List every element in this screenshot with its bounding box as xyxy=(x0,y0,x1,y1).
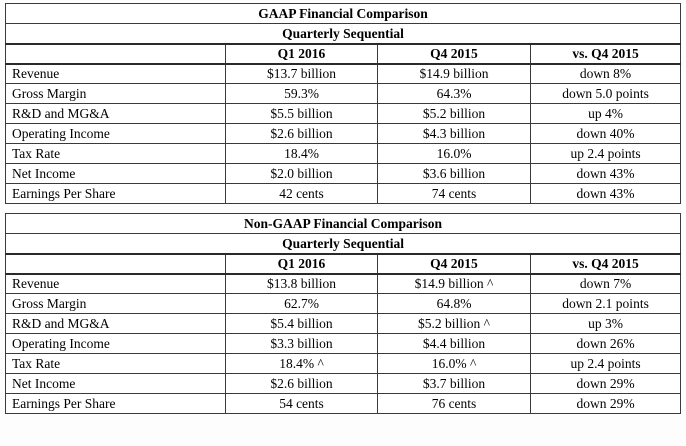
row-label: Gross Margin xyxy=(6,84,226,104)
row-label: R&D and MG&A xyxy=(6,104,226,124)
cell-change: down 43% xyxy=(531,164,681,184)
cell-change: down 43% xyxy=(531,184,681,204)
cell-q1-2016: 18.4% xyxy=(226,144,378,164)
cell-q1-2016: 42 cents xyxy=(226,184,378,204)
cell-change: down 7% xyxy=(531,274,681,294)
cell-q4-2015: $4.3 billion xyxy=(378,124,531,144)
table-row: Tax Rate 18.4% 16.0% up 2.4 points xyxy=(6,144,681,164)
table-subtitle: Quarterly Sequential xyxy=(6,24,681,44)
cell-q4-2015: $5.2 billion xyxy=(378,104,531,124)
column-header-q1-2016: Q1 2016 xyxy=(226,44,378,64)
table-row: R&D and MG&A $5.5 billion $5.2 billion u… xyxy=(6,104,681,124)
cell-change: down 26% xyxy=(531,334,681,354)
cell-change: down 8% xyxy=(531,64,681,84)
cell-q1-2016: $5.4 billion xyxy=(226,314,378,334)
row-label: Tax Rate xyxy=(6,144,226,164)
table-row: Tax Rate 18.4% ^ 16.0% ^ up 2.4 points xyxy=(6,354,681,374)
table-row: Net Income $2.6 billion $3.7 billion dow… xyxy=(6,374,681,394)
table-row: Gross Margin 59.3% 64.3% down 5.0 points xyxy=(6,84,681,104)
cell-change: up 4% xyxy=(531,104,681,124)
cell-change: up 3% xyxy=(531,314,681,334)
row-label: Earnings Per Share xyxy=(6,184,226,204)
table-row: Gross Margin 62.7% 64.8% down 2.1 points xyxy=(6,294,681,314)
row-label: Earnings Per Share xyxy=(6,394,226,414)
cell-change: down 5.0 points xyxy=(531,84,681,104)
cell-q1-2016: 18.4% ^ xyxy=(226,354,378,374)
cell-q1-2016: $13.7 billion xyxy=(226,64,378,84)
column-header-metric xyxy=(6,254,226,274)
table-title: GAAP Financial Comparison xyxy=(6,4,681,24)
cell-q1-2016: $5.5 billion xyxy=(226,104,378,124)
cell-q1-2016: 54 cents xyxy=(226,394,378,414)
table-row: Operating Income $2.6 billion $4.3 billi… xyxy=(6,124,681,144)
cell-q1-2016: $2.0 billion xyxy=(226,164,378,184)
cell-q4-2015: $4.4 billion xyxy=(378,334,531,354)
row-label: Operating Income xyxy=(6,334,226,354)
cell-change: down 2.1 points xyxy=(531,294,681,314)
column-header-vs-q4-2015: vs. Q4 2015 xyxy=(531,44,681,64)
non-gaap-financial-comparison-table: Non-GAAP Financial Comparison Quarterly … xyxy=(5,213,681,414)
table-header-row: Q1 2016 Q4 2015 vs. Q4 2015 xyxy=(6,44,681,64)
cell-q1-2016: $2.6 billion xyxy=(226,124,378,144)
row-label: Net Income xyxy=(6,374,226,394)
cell-q4-2015: $14.9 billion ^ xyxy=(378,274,531,294)
column-header-q4-2015: Q4 2015 xyxy=(378,44,531,64)
cell-q4-2015: 64.8% xyxy=(378,294,531,314)
table-row: Revenue $13.8 billion $14.9 billion ^ do… xyxy=(6,274,681,294)
table-subtitle-row: Quarterly Sequential xyxy=(6,24,681,44)
cell-q4-2015: $3.6 billion xyxy=(378,164,531,184)
cell-q4-2015: $14.9 billion xyxy=(378,64,531,84)
cell-q4-2015: 76 cents xyxy=(378,394,531,414)
cell-q1-2016: 59.3% xyxy=(226,84,378,104)
table-title: Non-GAAP Financial Comparison xyxy=(6,214,681,234)
cell-change: up 2.4 points xyxy=(531,144,681,164)
cell-change: up 2.4 points xyxy=(531,354,681,374)
cell-q4-2015: $3.7 billion xyxy=(378,374,531,394)
cell-q1-2016: $13.8 billion xyxy=(226,274,378,294)
cell-change: down 40% xyxy=(531,124,681,144)
cell-q4-2015: 16.0% xyxy=(378,144,531,164)
cell-change: down 29% xyxy=(531,394,681,414)
cell-q4-2015: 64.3% xyxy=(378,84,531,104)
row-label: Net Income xyxy=(6,164,226,184)
table-row: Net Income $2.0 billion $3.6 billion dow… xyxy=(6,164,681,184)
table-row: Earnings Per Share 42 cents 74 cents dow… xyxy=(6,184,681,204)
row-label: Revenue xyxy=(6,64,226,84)
row-label: Tax Rate xyxy=(6,354,226,374)
cell-q4-2015: 16.0% ^ xyxy=(378,354,531,374)
table-row: Revenue $13.7 billion $14.9 billion down… xyxy=(6,64,681,84)
row-label: R&D and MG&A xyxy=(6,314,226,334)
row-label: Revenue xyxy=(6,274,226,294)
gaap-financial-comparison-table: GAAP Financial Comparison Quarterly Sequ… xyxy=(5,3,681,204)
table-subtitle: Quarterly Sequential xyxy=(6,234,681,254)
column-header-q1-2016: Q1 2016 xyxy=(226,254,378,274)
cell-q4-2015: $5.2 billion ^ xyxy=(378,314,531,334)
table-header-row: Q1 2016 Q4 2015 vs. Q4 2015 xyxy=(6,254,681,274)
table-row: Operating Income $3.3 billion $4.4 billi… xyxy=(6,334,681,354)
column-header-vs-q4-2015: vs. Q4 2015 xyxy=(531,254,681,274)
row-label: Gross Margin xyxy=(6,294,226,314)
cell-change: down 29% xyxy=(531,374,681,394)
table-title-row: GAAP Financial Comparison xyxy=(6,4,681,24)
cell-q1-2016: 62.7% xyxy=(226,294,378,314)
row-label: Operating Income xyxy=(6,124,226,144)
cell-q1-2016: $2.6 billion xyxy=(226,374,378,394)
document-page: GAAP Financial Comparison Quarterly Sequ… xyxy=(0,0,686,446)
table-title-row: Non-GAAP Financial Comparison xyxy=(6,214,681,234)
cell-q4-2015: 74 cents xyxy=(378,184,531,204)
table-row: Earnings Per Share 54 cents 76 cents dow… xyxy=(6,394,681,414)
cell-q1-2016: $3.3 billion xyxy=(226,334,378,354)
table-row: R&D and MG&A $5.4 billion $5.2 billion ^… xyxy=(6,314,681,334)
column-header-metric xyxy=(6,44,226,64)
column-header-q4-2015: Q4 2015 xyxy=(378,254,531,274)
table-subtitle-row: Quarterly Sequential xyxy=(6,234,681,254)
